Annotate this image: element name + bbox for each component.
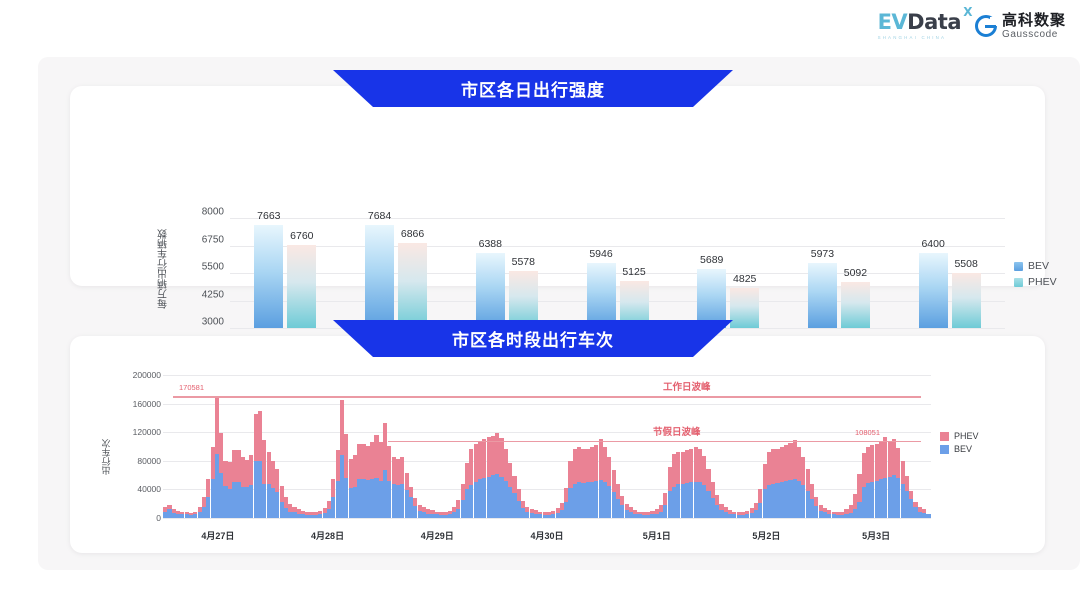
gausscode-mark-icon bbox=[975, 15, 997, 37]
evdata-logo: EVDataX SHANGHAI CHINA bbox=[878, 12, 961, 40]
chart1-legend-label: BEV bbox=[1028, 260, 1049, 272]
gausscode-wordmark: 高科数聚 Gausscode bbox=[1002, 13, 1066, 40]
chart2-x-label: 4月29日 bbox=[421, 529, 454, 542]
chart1-bar-value-label: 5092 bbox=[844, 267, 867, 279]
chart2-legend: PHEVBEV bbox=[940, 431, 979, 454]
chart1-bar-group: 76846866 bbox=[365, 225, 427, 328]
chart2-x-label: 5月1日 bbox=[643, 529, 671, 542]
chart1-y-tick: 8000 bbox=[202, 207, 224, 218]
chart1-bar-value-label: 5689 bbox=[700, 254, 723, 266]
chart1-bar-phev: 5092 bbox=[841, 282, 870, 328]
chart1-bar-bev: 7684 bbox=[365, 225, 394, 328]
evdata-logo-dark: Data bbox=[907, 10, 961, 34]
chart2-bar-segment-phev bbox=[517, 489, 521, 500]
workday-peak-value: 170581 bbox=[179, 383, 204, 392]
chart1-gridline bbox=[230, 218, 1005, 219]
holiday-peak-line bbox=[388, 441, 921, 443]
gausscode-logo: 高科数聚 Gausscode bbox=[975, 13, 1066, 40]
chart1-bar-value-label: 6866 bbox=[401, 228, 424, 240]
chart2-legend-item[interactable]: PHEV bbox=[940, 431, 979, 441]
chart1-y-axis-label: 每万辆出行车辆数 bbox=[156, 204, 172, 334]
chart2-bar-segment-phev bbox=[409, 487, 413, 498]
chart1-bar-value-label: 4825 bbox=[733, 273, 756, 285]
chart2-bar-segment-phev bbox=[905, 476, 909, 491]
workday-peak-label: 工作日波峰 bbox=[663, 379, 711, 393]
holiday-peak-value: 108051 bbox=[855, 428, 880, 437]
chart2-y-tick: 80000 bbox=[137, 456, 161, 466]
chart1-bar-bev: 5689 bbox=[697, 269, 726, 328]
chart2-x-label: 5月2日 bbox=[752, 529, 780, 542]
chart1-bar-value-label: 5578 bbox=[512, 256, 535, 268]
chart2-bar bbox=[926, 514, 930, 518]
evdata-tagline: SHANGHAI CHINA bbox=[878, 35, 947, 40]
chart1-bar-value-label: 5508 bbox=[954, 258, 977, 270]
chart2-legend-swatch bbox=[940, 432, 949, 441]
chart2-bar-segment-bev bbox=[926, 514, 930, 518]
chart1-bar-phev: 6760 bbox=[287, 245, 316, 328]
chart1-bar-value-label: 7663 bbox=[257, 210, 280, 222]
evdata-wordmark: EVDataX bbox=[878, 12, 961, 33]
chart1-y-tick: 5500 bbox=[202, 262, 224, 273]
chart1-bar-group: 59465125 bbox=[587, 263, 649, 328]
chart1-bar-bev: 5946 bbox=[587, 263, 616, 328]
holiday-peak-label: 节假日波峰 bbox=[653, 424, 701, 438]
chart1-y-axis-ticks: 30004250550067508000 bbox=[176, 212, 224, 334]
chart2-x-axis-labels: 4月27日4月28日4月29日4月30日5月1日5月2日5月3日 bbox=[163, 529, 931, 543]
chart1-bar-phev: 6866 bbox=[398, 243, 427, 328]
chart1-plot-area: 7663676076846866638855785946512556894825… bbox=[230, 218, 1005, 328]
chart1-legend-item[interactable]: BEV bbox=[1014, 260, 1057, 272]
chart1-bar-phev: 4825 bbox=[730, 288, 759, 328]
chart2-x-label: 4月28日 bbox=[311, 529, 344, 542]
gausscode-name-cn: 高科数聚 bbox=[1002, 13, 1066, 28]
chart1-bar-bev: 7663 bbox=[254, 225, 283, 328]
chart1-legend-label: PHEV bbox=[1028, 276, 1057, 288]
chart1-bar-value-label: 5125 bbox=[622, 266, 645, 278]
chart1-bar-value-label: 6388 bbox=[479, 238, 502, 250]
chart1-legend-swatch bbox=[1014, 262, 1023, 271]
gausscode-name-en: Gausscode bbox=[1002, 30, 1066, 40]
chart2-y-axis-ticks: 04000080000120000160000200000 bbox=[113, 370, 161, 522]
chart1-bar-value-label: 5946 bbox=[589, 248, 612, 260]
chart1-bar-bev: 6400 bbox=[919, 253, 948, 328]
evdata-logo-light: EV bbox=[878, 10, 908, 34]
chart2-legend-label: PHEV bbox=[954, 431, 979, 441]
chart2-legend-item[interactable]: BEV bbox=[940, 444, 979, 454]
chart1-legend-item[interactable]: PHEV bbox=[1014, 276, 1057, 288]
chart1-y-tick: 4250 bbox=[202, 289, 224, 300]
chart2-legend-swatch bbox=[940, 445, 949, 454]
chart1-bar-value-label: 5973 bbox=[811, 248, 834, 260]
chart1-legend: BEVPHEV bbox=[1014, 260, 1057, 288]
chart2-plot-area: 工作日波峰170581节假日波峰108051 bbox=[163, 375, 931, 518]
chart2-y-axis-label: 出行车次 bbox=[99, 418, 113, 496]
chart2-y-tick: 160000 bbox=[133, 399, 161, 409]
chart2-y-tick: 200000 bbox=[133, 370, 161, 380]
chart2-x-label: 4月30日 bbox=[530, 529, 563, 542]
chart2-gridline bbox=[163, 518, 931, 519]
chart1-bar-bev: 5973 bbox=[808, 263, 837, 328]
chart1-bar-bev: 6388 bbox=[476, 253, 505, 328]
chart1-bar-group: 63885578 bbox=[476, 253, 538, 328]
chart1-bar-value-label: 6400 bbox=[921, 238, 944, 250]
chart2-y-tick: 120000 bbox=[133, 427, 161, 437]
chart1-y-tick: 6750 bbox=[202, 234, 224, 245]
workday-peak-line bbox=[173, 396, 921, 398]
chart1-gridline bbox=[230, 246, 1005, 247]
page-header: EVDataX SHANGHAI CHINA 高科数聚 Gausscode bbox=[0, 0, 1080, 57]
chart2-x-label: 5月3日 bbox=[862, 529, 890, 542]
chart2-y-tick: 40000 bbox=[137, 484, 161, 494]
chart1-bar-group: 59735092 bbox=[808, 263, 870, 328]
chart2-x-label: 4月27日 bbox=[201, 529, 234, 542]
chart1-bar-value-label: 6760 bbox=[290, 230, 313, 242]
chart1-bar-group: 76636760 bbox=[254, 225, 316, 328]
chart1-legend-swatch bbox=[1014, 278, 1023, 287]
chart1-bar-phev: 5508 bbox=[952, 273, 981, 328]
chart1-bar-value-label: 7684 bbox=[368, 210, 391, 222]
daily-travel-intensity-chart: 每万辆出行车辆数 30004250550067508000 7663676076… bbox=[70, 86, 1045, 286]
logo-group: EVDataX SHANGHAI CHINA 高科数聚 Gausscode bbox=[878, 12, 1066, 40]
chart2-y-tick: 0 bbox=[156, 513, 161, 523]
evdata-superscript: X bbox=[963, 6, 972, 18]
chart2-bar-segment-phev bbox=[909, 491, 913, 500]
chart1-bar-group: 64005508 bbox=[919, 253, 981, 328]
chart1-bar-group: 56894825 bbox=[697, 269, 759, 328]
chart1-y-tick: 3000 bbox=[202, 317, 224, 328]
chart2-legend-label: BEV bbox=[954, 444, 972, 454]
chart1-bar-phev: 5578 bbox=[509, 271, 538, 328]
